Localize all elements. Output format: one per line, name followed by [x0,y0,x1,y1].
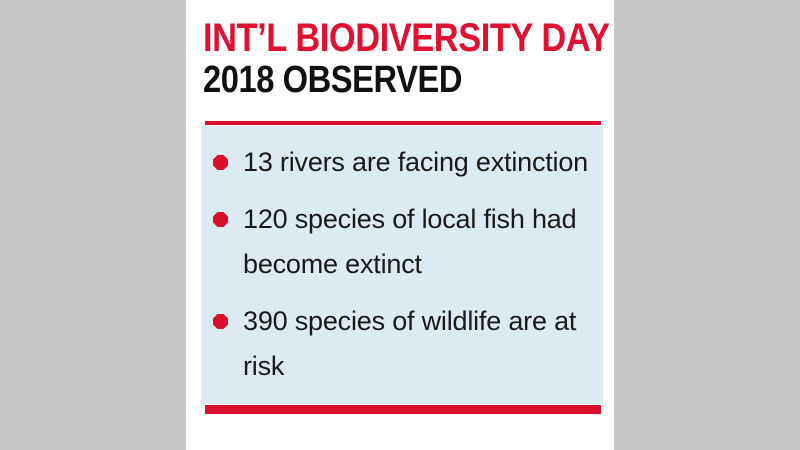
infographic-card: INT’L BIODIVERSITY DAY 2018 OBSERVED 13 … [186,0,614,450]
list-item-text: 390 species of wildlife are at risk [243,299,593,389]
infographic-root: INT’L BIODIVERSITY DAY 2018 OBSERVED 13 … [0,0,800,450]
list-item: 13 rivers are facing extinction [205,140,593,185]
list-item: 120 species of local fish had become ext… [205,197,593,287]
red-octagon-bullet-icon [213,314,228,329]
divider-rule-top [205,121,601,125]
headline-secondary: 2018 OBSERVED [203,61,547,99]
facts-panel: 13 rivers are facing extinction 120 spec… [201,126,603,404]
headline-block: INT’L BIODIVERSITY DAY 2018 OBSERVED [203,18,603,99]
list-item-text: 13 rivers are facing extinction [243,140,593,185]
divider-rule-bottom [205,405,601,414]
fact-list: 13 rivers are facing extinction 120 spec… [205,140,593,389]
list-item: 390 species of wildlife are at risk [205,299,593,389]
list-item-text: 120 species of local fish had become ext… [243,197,593,287]
headline-primary: INT’L BIODIVERSITY DAY [203,18,547,61]
red-octagon-bullet-icon [213,212,228,227]
red-octagon-bullet-icon [213,155,228,170]
